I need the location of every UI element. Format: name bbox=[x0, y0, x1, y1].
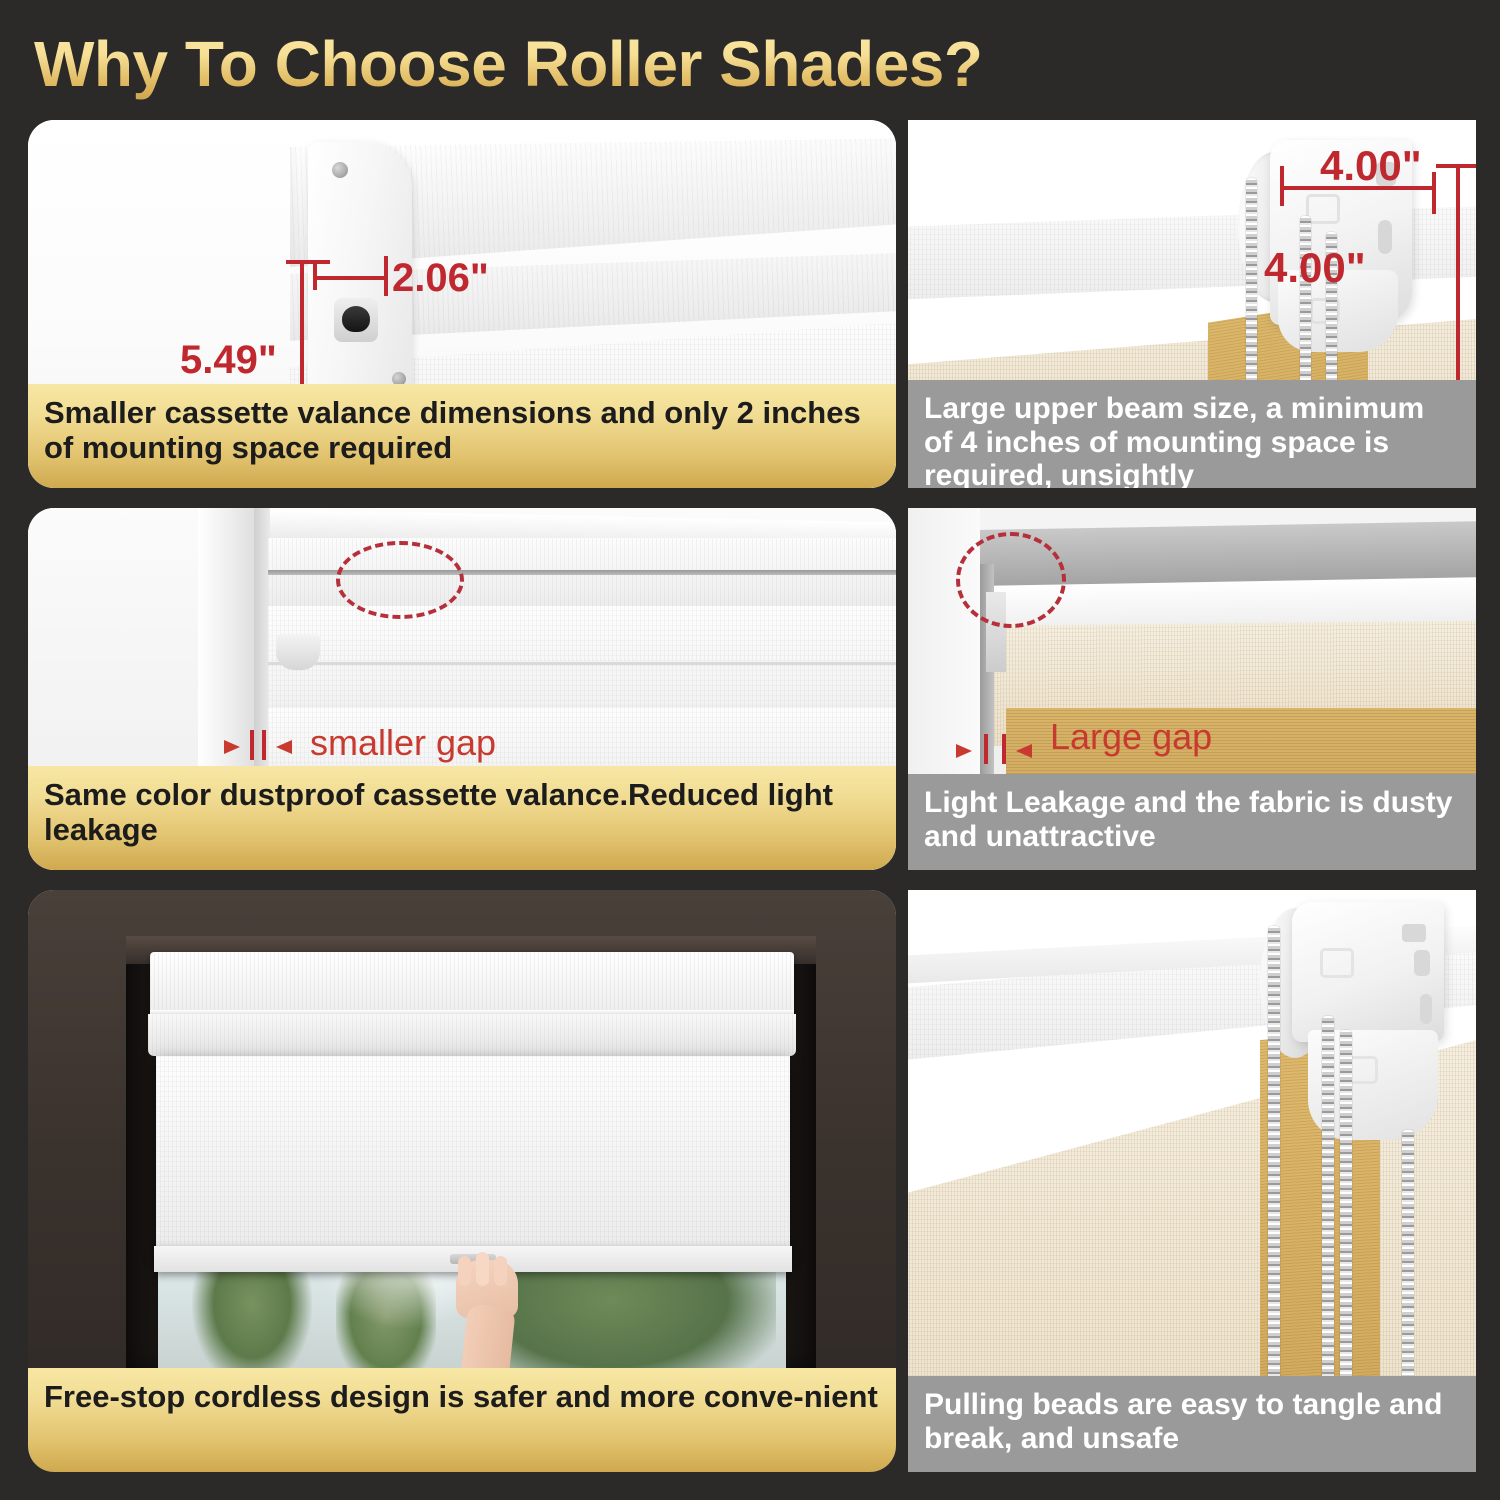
finger-3 bbox=[494, 1256, 507, 1286]
finger-1 bbox=[458, 1256, 471, 1286]
finger-2 bbox=[476, 1252, 489, 1286]
caption-large-beam: Large upper beam size, a minimum of 4 in… bbox=[908, 380, 1476, 488]
highlight-ellipse-gap bbox=[336, 541, 464, 619]
width-dim-tick-left bbox=[313, 260, 317, 290]
bracket-arrow-emblem-top bbox=[1306, 194, 1340, 224]
page-title: Why To Choose Roller Shades? bbox=[34, 24, 1134, 104]
gap-arrow-left bbox=[224, 740, 240, 754]
shade-fabric-seam bbox=[268, 662, 896, 665]
headrail-lip bbox=[148, 1014, 796, 1056]
panel-pulling-beads: Pulling beads are easy to tangle and bre… bbox=[908, 890, 1476, 1472]
bracket-slot-top-1 bbox=[1402, 924, 1426, 942]
panel-light-leakage: Large gap Light Leakage and the fabric i… bbox=[908, 508, 1476, 870]
gap-marker-2 bbox=[262, 730, 266, 760]
width-dimension-label: 2.06" bbox=[392, 256, 489, 301]
panel-cordless-design: Free-stop cordless design is safer and m… bbox=[28, 890, 896, 1472]
beam-height-dim-line bbox=[1456, 164, 1460, 390]
window-frame-left-jamb bbox=[198, 508, 254, 808]
beam-width-tick-left bbox=[1280, 166, 1284, 206]
beam-height-tick-top bbox=[1436, 164, 1476, 168]
caption-light-leakage: Light Leakage and the fabric is dusty an… bbox=[908, 774, 1476, 870]
panel-dustproof-valance: smaller gap Same color dustproof cassett… bbox=[28, 508, 896, 870]
headrail-valance bbox=[150, 952, 794, 1014]
gap-marker-1 bbox=[250, 730, 254, 760]
bracket-slot-lower bbox=[1378, 220, 1392, 254]
caption-cordless-design: Free-stop cordless design is safer and m… bbox=[28, 1368, 896, 1472]
beam-width-label: 4.00" bbox=[1320, 142, 1422, 190]
large-gap-arrow-right bbox=[1016, 744, 1032, 758]
large-gap-arrow-left bbox=[956, 744, 972, 758]
caption-pulling-beads: Pulling beads are easy to tangle and bre… bbox=[908, 1376, 1476, 1472]
bracket-slot-top-2 bbox=[1414, 950, 1430, 976]
highlight-circle-large-gap bbox=[956, 532, 1066, 628]
end-cap-bracket-hole bbox=[342, 306, 370, 332]
beam-width-tick-right bbox=[1432, 172, 1436, 214]
gap-callout-label: smaller gap bbox=[310, 722, 496, 764]
caption-smaller-cassette: Smaller cassette valance dimensions and … bbox=[28, 384, 896, 488]
roller-end-cap bbox=[276, 634, 320, 670]
caption-dustproof-valance: Same color dustproof cassette valance.Re… bbox=[28, 766, 896, 870]
large-gap-marker-1 bbox=[984, 734, 988, 764]
width-dim-tick-right bbox=[384, 256, 388, 296]
bracket-slot-side bbox=[1420, 994, 1432, 1024]
height-dimension-label: 5.49" bbox=[180, 338, 277, 383]
beam-height-label: 4.00" bbox=[1264, 244, 1366, 292]
large-gap-callout-label: Large gap bbox=[1050, 716, 1212, 758]
shade-fabric-main bbox=[156, 1056, 790, 1252]
panel-smaller-cassette: 2.06" 5.49" Smaller cassette valance dim… bbox=[28, 120, 896, 488]
width-dim-line bbox=[313, 276, 388, 280]
large-gap-marker-2 bbox=[1002, 734, 1006, 764]
gap-arrow-right bbox=[276, 740, 292, 754]
height-dim-tick-top bbox=[286, 260, 330, 264]
panel-large-beam: 4.00" 4.00" Large upper beam size, a min… bbox=[908, 120, 1476, 488]
end-cap-screw-top bbox=[332, 162, 348, 178]
bracket-emblem-upper bbox=[1320, 948, 1354, 978]
